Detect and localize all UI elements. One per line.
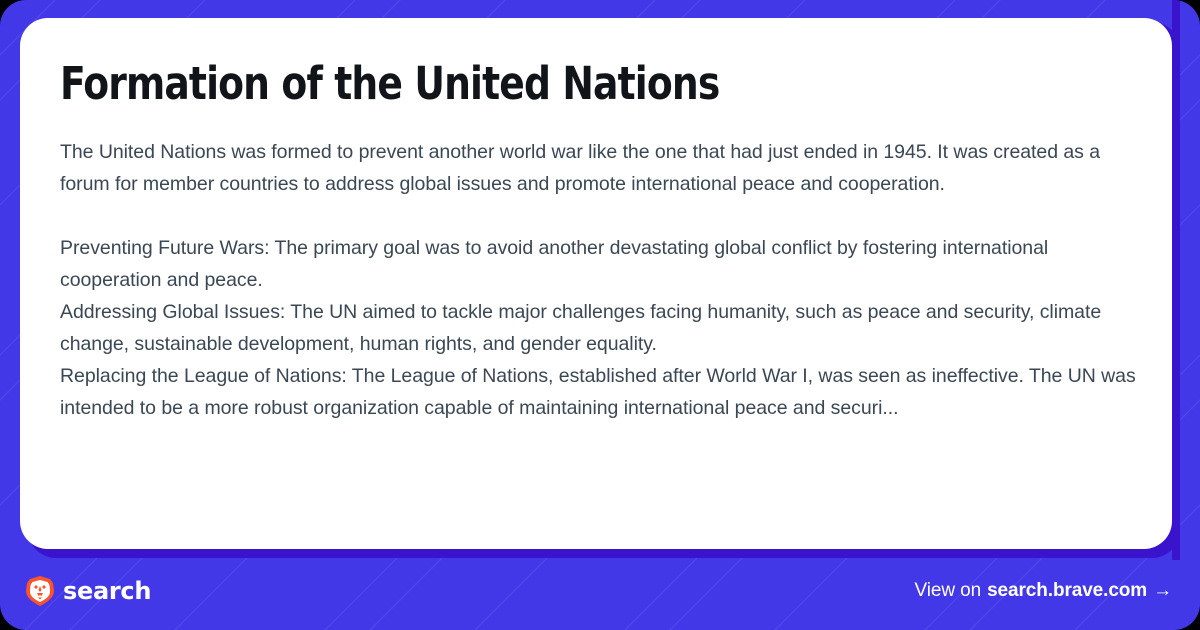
brave-search-wordmark: search <box>63 577 151 605</box>
arrow-right-icon: → <box>1153 580 1172 602</box>
content-card: Formation of the United Nations The Unit… <box>20 18 1172 549</box>
description-paragraph-2: Preventing Future Wars: The primary goal… <box>60 232 1138 296</box>
footer-bar: search View on search.brave.com → <box>0 558 1200 630</box>
page-title: Formation of the United Nations <box>60 60 1063 109</box>
view-on-brave-link[interactable]: View on search.brave.com → <box>915 580 1172 602</box>
description-paragraph-4: Replacing the League of Nations: The Lea… <box>60 360 1138 424</box>
brave-search-brand[interactable]: search <box>26 576 151 606</box>
description-block: The United Nations was formed to prevent… <box>60 136 1138 424</box>
paragraph-spacer <box>60 200 1138 232</box>
description-paragraph-1: The United Nations was formed to prevent… <box>60 136 1138 200</box>
view-on-domain: search.brave.com <box>987 580 1147 602</box>
description-paragraph-3: Addressing Global Issues: The UN aimed t… <box>60 296 1138 360</box>
view-on-label: View on <box>915 580 982 602</box>
brave-lion-icon <box>26 576 54 606</box>
brave-search-og-card: Formation of the United Nations The Unit… <box>0 0 1200 630</box>
